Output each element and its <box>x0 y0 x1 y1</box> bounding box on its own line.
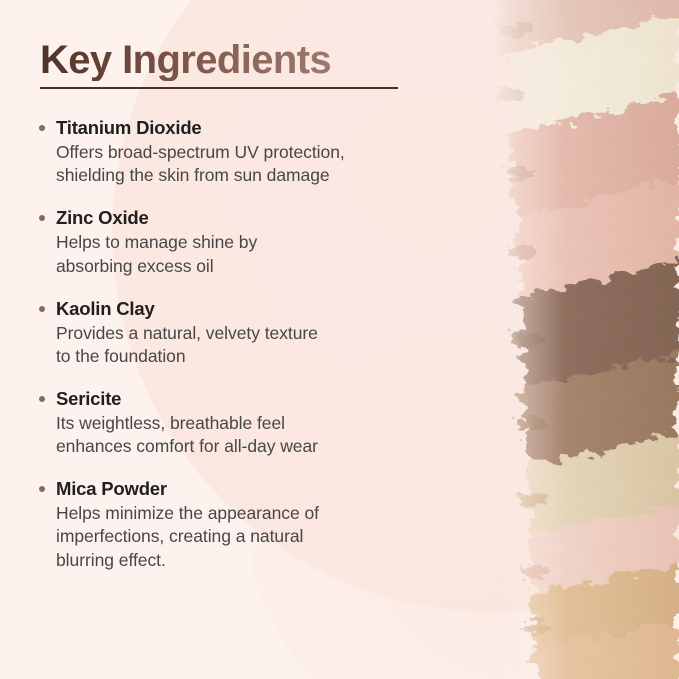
list-item: Titanium Dioxide Offers broad-spectrum U… <box>34 116 454 187</box>
bullet-icon <box>39 215 45 221</box>
bullet-icon <box>39 396 45 402</box>
ingredient-description: Helps minimize the appearance of imperfe… <box>56 502 454 571</box>
ingredients-infographic: Key Ingredients Titanium Dioxide Offers … <box>0 0 679 679</box>
bullet-icon <box>39 125 45 131</box>
list-item: Sericite Its weightless, breathable feel… <box>34 387 454 458</box>
page-title: Key Ingredients <box>40 39 420 81</box>
ingredient-name: Sericite <box>56 387 454 410</box>
ingredient-description: Helps to manage shine by absorbing exces… <box>56 231 454 277</box>
ingredient-description: Its weightless, breathable feel enhances… <box>56 412 454 458</box>
content-column: Key Ingredients Titanium Dioxide Offers … <box>0 0 470 679</box>
bullet-icon <box>39 306 45 312</box>
ingredient-name: Kaolin Clay <box>56 297 454 320</box>
list-item: Zinc Oxide Helps to manage shine by abso… <box>34 206 454 277</box>
list-item: Mica Powder Helps minimize the appearanc… <box>34 477 454 571</box>
ingredients-list: Titanium Dioxide Offers broad-spectrum U… <box>34 116 454 572</box>
ingredient-description: Provides a natural, velvety texture to t… <box>56 322 454 368</box>
page-title-wrap: Key Ingredients <box>40 39 420 81</box>
bullet-icon <box>39 486 45 492</box>
ingredient-description: Offers broad-spectrum UV protection, shi… <box>56 141 454 187</box>
powder-swatch-graphic <box>489 0 679 679</box>
ingredient-name: Zinc Oxide <box>56 206 454 229</box>
list-item: Kaolin Clay Provides a natural, velvety … <box>34 297 454 368</box>
ingredient-name: Mica Powder <box>56 477 454 500</box>
title-underline <box>40 87 398 89</box>
ingredient-name: Titanium Dioxide <box>56 116 454 139</box>
powder-swatch-image <box>489 0 679 679</box>
